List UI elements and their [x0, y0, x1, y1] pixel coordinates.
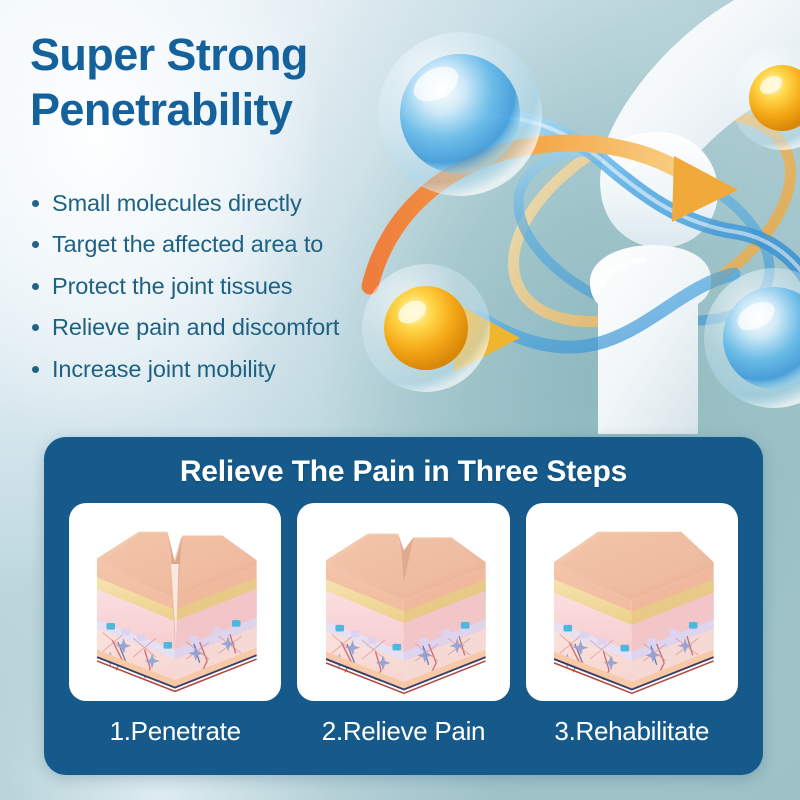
infographic-root: Super Strong Penetrability Small molecul…: [0, 0, 800, 800]
headline-line-1: Super Strong: [30, 29, 308, 80]
benefits-list: Small molecules directly Target the affe…: [32, 188, 432, 395]
list-item: Relieve pain and discomfort: [32, 312, 432, 343]
steps-panel-title: Relieve The Pain in Three Steps: [44, 455, 763, 489]
list-item: Protect the joint tissues: [32, 271, 432, 302]
headline-line-2: Penetrability: [30, 83, 430, 138]
step-card: 3.Rehabilitate: [526, 503, 738, 747]
list-item: Increase joint mobility: [32, 354, 432, 385]
list-item: Target the affected area to: [32, 229, 432, 260]
list-item-label: Protect the joint tissues: [52, 271, 292, 302]
list-item-label: Small molecules directly: [52, 188, 302, 219]
list-item-label: Relieve pain and discomfort: [52, 312, 339, 343]
page-title: Super Strong Penetrability: [30, 28, 430, 138]
bullet-dot-icon: [32, 200, 39, 207]
skin-cross-section-healed-icon: [526, 503, 738, 701]
step-caption: 2.Relieve Pain: [322, 716, 485, 747]
steps-panel: Relieve The Pain in Three Steps: [44, 437, 763, 775]
blue-molecule-sphere-icon: [704, 268, 800, 408]
bullet-dot-icon: [32, 366, 39, 373]
bullet-dot-icon: [32, 283, 39, 290]
step-card: 2.Relieve Pain: [297, 503, 509, 747]
steps-card-row: 1.Penetrate: [69, 503, 738, 747]
step-card: 1.Penetrate: [69, 503, 281, 747]
skin-cross-section-deep-wound-icon: [69, 503, 281, 701]
step-caption: 1.Penetrate: [110, 716, 241, 747]
step-caption: 3.Rehabilitate: [554, 716, 709, 747]
skin-cross-section-shallow-wound-icon: [297, 503, 509, 701]
bullet-dot-icon: [32, 324, 39, 331]
list-item-label: Target the affected area to: [52, 229, 323, 260]
list-item-label: Increase joint mobility: [52, 354, 276, 385]
list-item: Small molecules directly: [32, 188, 432, 219]
bullet-dot-icon: [32, 241, 39, 248]
